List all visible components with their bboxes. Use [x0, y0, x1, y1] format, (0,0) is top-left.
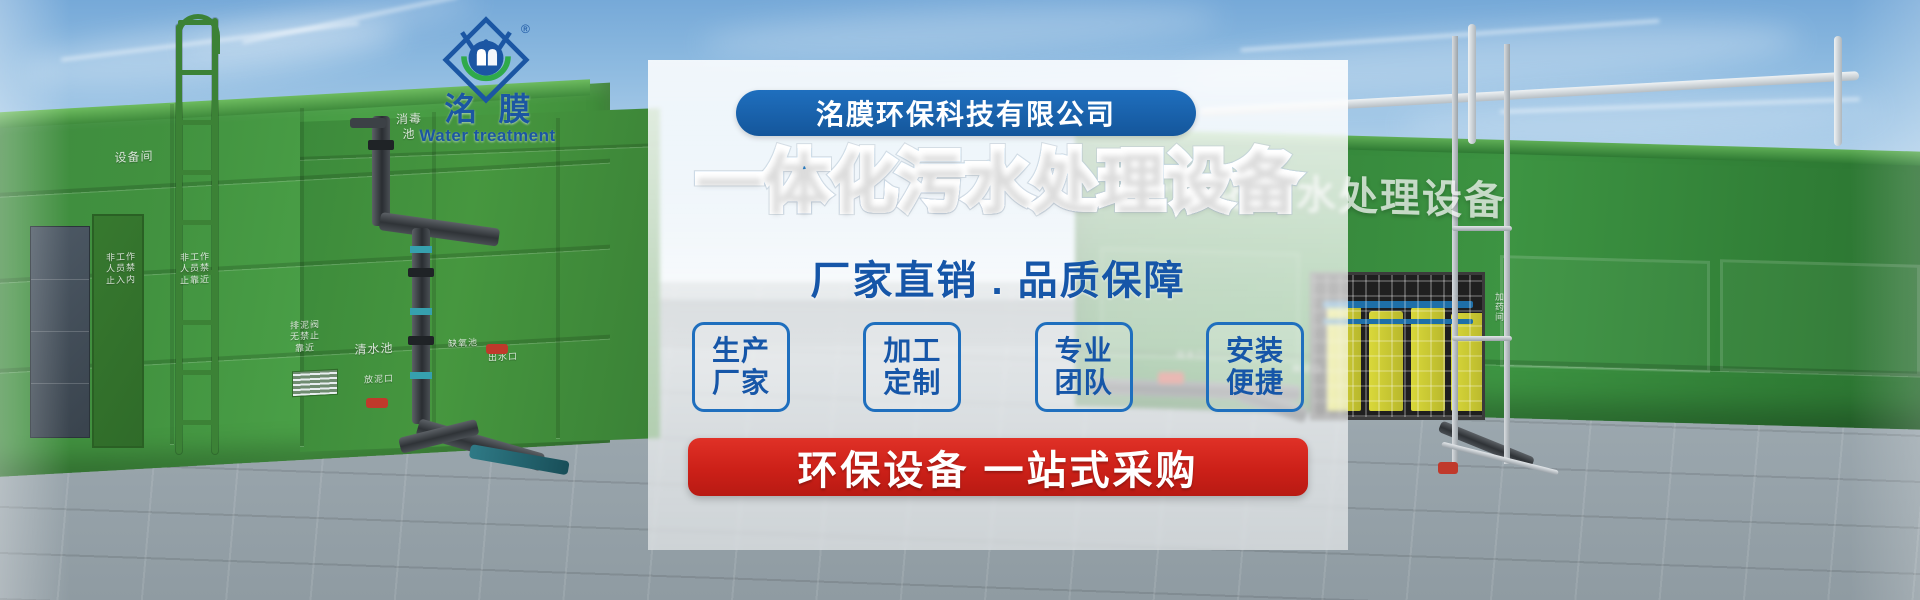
feature-badge-team[interactable]: 专业 团队: [1035, 322, 1133, 412]
tank-label: 设备间: [114, 149, 154, 166]
red-valve: [1438, 462, 1458, 474]
sub-headline: 厂家直销 . 品质保障: [660, 248, 1336, 306]
red-valve: [486, 344, 508, 354]
tank-label: 非工作人员禁止靠近: [178, 251, 212, 287]
main-headline: 一体化污水处理设备: [660, 148, 1336, 214]
tank-label: 放泥口: [362, 373, 396, 386]
logo-english-name: Water treatment: [395, 126, 580, 146]
cloud: [699, 0, 1221, 68]
feature-line-1: 专业: [1055, 335, 1113, 367]
tank-stiffener: [432, 112, 436, 442]
pipe-flange: [368, 140, 394, 150]
feature-line-2: 便捷: [1226, 367, 1284, 399]
ladder: [176, 18, 220, 454]
feature-badge-customization[interactable]: 加工 定制: [863, 322, 961, 412]
feature-badge-installation[interactable]: 安装 便捷: [1206, 322, 1304, 412]
content-card: 洺膜环保科技有限公司 一体化污水处理设备 一体化污水处理设备 厂家直销 . 品质…: [648, 60, 1348, 550]
vent-grille: [292, 369, 338, 397]
logo-chinese-name: 洺膜: [395, 84, 580, 130]
feature-line-2: 定制: [883, 367, 941, 399]
ladder-top-hoop: [176, 14, 220, 38]
feature-line-1: 加工: [883, 335, 941, 367]
pipe-marker: [410, 372, 432, 379]
pipe-marker: [410, 308, 432, 315]
promotional-banner: 设备间 非工作人员禁止入内 非工作人员禁止靠近 排泥阀无禁止靠近 清水池 缺氧池…: [0, 0, 1920, 600]
company-name-pill: 洺膜环保科技有限公司: [736, 90, 1196, 136]
tank-stiffener: [170, 104, 174, 444]
call-to-action-banner[interactable]: 环保设备 一站式采购: [688, 438, 1308, 496]
vertical-pipe: [412, 228, 430, 424]
feature-line-2: 厂家: [712, 367, 770, 399]
tank-label: 排泥阀无禁止靠近: [288, 319, 322, 355]
vertical-pipe: [372, 116, 390, 226]
feature-badge-production[interactable]: 生产 厂家: [692, 322, 790, 412]
tank-label: 非工作人员禁止入内: [104, 251, 138, 287]
registered-trademark-icon: ®: [521, 22, 530, 36]
company-logo: ® 洺膜 Water treatment: [395, 14, 580, 122]
rail-post: [1834, 36, 1842, 146]
feature-line-1: 安装: [1226, 335, 1284, 367]
tank-stiffener: [556, 118, 560, 438]
red-valve: [366, 398, 388, 408]
equipment-door: [92, 214, 144, 448]
tank-label: 缺氧池: [446, 337, 480, 350]
pipe-bracket: [350, 118, 386, 128]
pipe-marker: [410, 246, 432, 253]
feature-line-1: 生产: [712, 335, 770, 367]
feature-badge-list: 生产 厂家 加工 定制 专业 团队 安装 便捷: [692, 322, 1304, 412]
pipe-flange: [408, 268, 434, 277]
fence-base: [1440, 430, 1560, 490]
pipe-flange: [408, 336, 434, 345]
safety-fence: [1452, 36, 1512, 466]
tank-panel-frame: [1500, 255, 1710, 373]
tank-label: 清水池: [350, 341, 398, 359]
tank-panel-frame: [1720, 259, 1920, 377]
control-cabinet-panel: [30, 226, 90, 438]
feature-line-2: 团队: [1055, 367, 1113, 399]
